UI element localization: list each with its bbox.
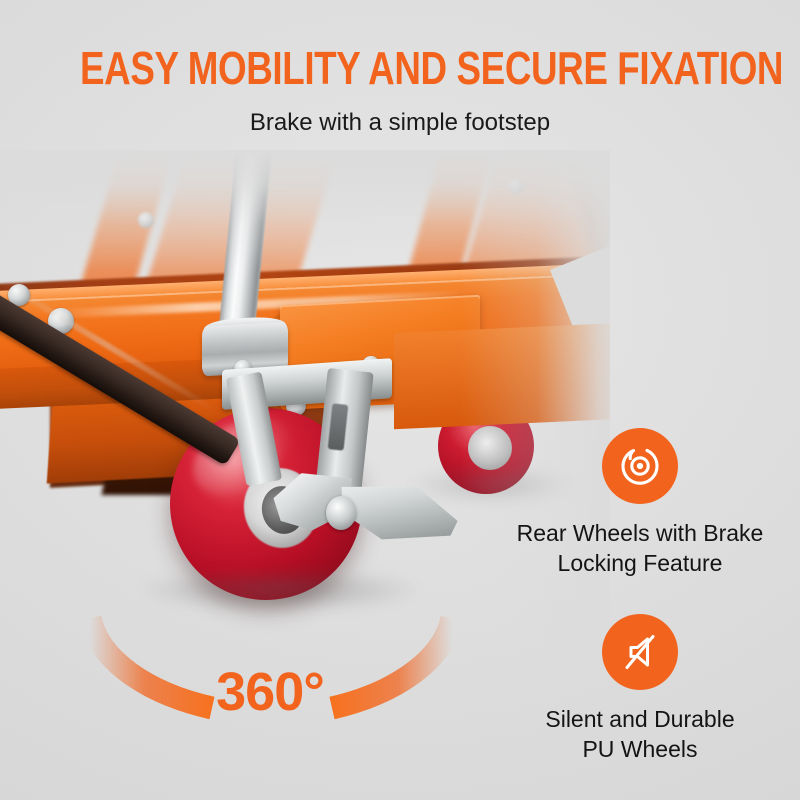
feature-1-text: Rear Wheels with Brake Locking Feature <box>490 518 790 578</box>
brake-lever-pivot-pin <box>326 496 356 530</box>
feature-2-text: Silent and Durable PU Wheels <box>490 704 790 764</box>
feature-2-line-2: PU Wheels <box>582 736 697 762</box>
brake-disc-icon <box>617 443 663 489</box>
page-subtitle: Brake with a simple footstep <box>0 108 800 138</box>
page-title: EASY MOBILITY AND SECURE FIXATION <box>80 44 720 92</box>
front-wheel-floor-shadow <box>140 568 420 612</box>
mute-speaker-icon <box>617 629 663 675</box>
feature-silent-pu-wheels: Silent and Durable PU Wheels <box>490 614 790 764</box>
product-photo <box>0 150 610 670</box>
photo-right-fade <box>460 150 610 670</box>
feature-2-line-1: Silent and Durable <box>545 706 734 732</box>
product-feature-panel: EASY MOBILITY AND SECURE FIXATION Brake … <box>0 0 800 800</box>
rotation-badge: 360° <box>60 612 480 762</box>
brake-disc-icon-badge <box>602 428 678 504</box>
rotation-badge-value: 360° <box>60 664 480 720</box>
feature-1-line-1: Rear Wheels with Brake <box>517 520 764 546</box>
feature-rear-wheels-brake: Rear Wheels with Brake Locking Feature <box>490 428 790 578</box>
mute-speaker-icon-badge <box>602 614 678 690</box>
feature-1-line-2: Locking Feature <box>558 550 723 576</box>
